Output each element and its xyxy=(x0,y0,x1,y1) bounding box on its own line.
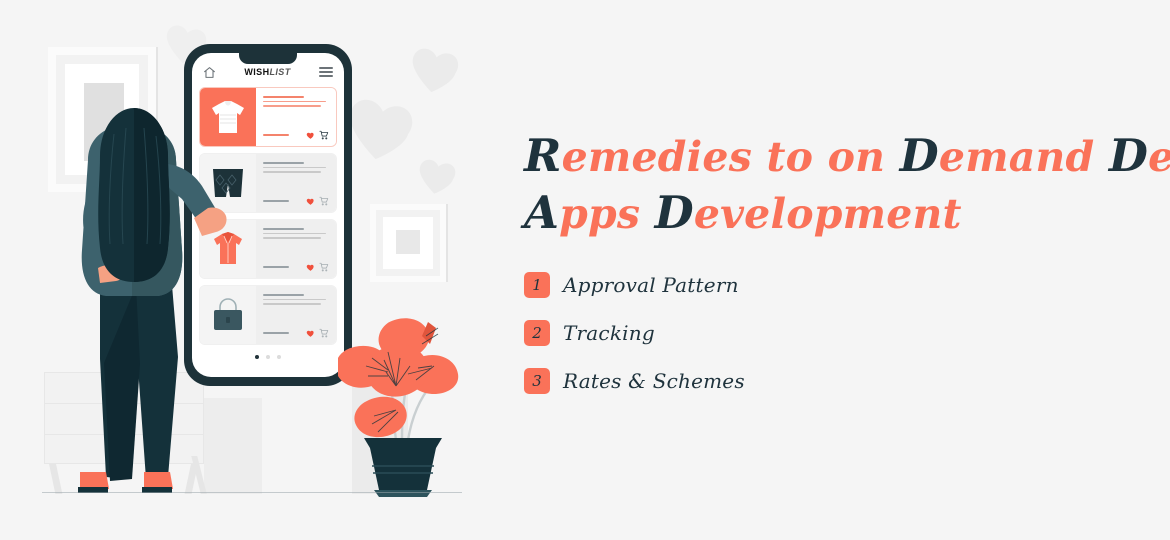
product-text-lines xyxy=(263,294,329,305)
product-desc-line xyxy=(263,171,321,173)
product-actions-row xyxy=(263,130,329,140)
title-word: to on xyxy=(766,133,885,181)
product-price-line xyxy=(263,332,289,334)
product-meta xyxy=(256,154,336,212)
decor-heart-icon xyxy=(340,88,424,170)
product-action-icons xyxy=(306,262,329,272)
list-item: 3 Rates & Schemes xyxy=(524,368,1124,394)
product-desc-line xyxy=(263,237,321,239)
product-actions-row xyxy=(263,328,329,338)
heart-icon[interactable] xyxy=(306,197,315,206)
product-meta xyxy=(256,88,336,146)
product-title-line xyxy=(263,228,304,230)
product-desc-line xyxy=(263,101,326,103)
pagination-dot[interactable] xyxy=(255,355,259,359)
heart-icon[interactable] xyxy=(306,329,315,338)
product-price-line xyxy=(263,134,289,136)
list-item-label: Tracking xyxy=(563,321,655,345)
product-desc-line xyxy=(263,303,321,305)
product-action-icons xyxy=(306,196,329,206)
product-actions-row xyxy=(263,196,329,206)
wall-frame-small xyxy=(370,204,446,282)
brand-italic: LIST xyxy=(270,67,291,77)
product-action-icons xyxy=(306,130,329,140)
product-price-line xyxy=(263,266,289,268)
product-action-icons xyxy=(306,328,329,338)
title-word: pps xyxy=(559,190,640,238)
title-word: emand xyxy=(939,133,1095,181)
phone-notch xyxy=(239,53,297,64)
product-desc-line xyxy=(263,167,326,169)
product-desc-line xyxy=(263,233,326,235)
pagination-dot[interactable] xyxy=(277,355,281,359)
title-capital: D xyxy=(1109,129,1148,182)
title-capital: D xyxy=(900,129,939,182)
title-capital: R xyxy=(524,129,562,182)
frame-artwork xyxy=(396,230,420,254)
feature-list: 1 Approval Pattern 2 Tracking 3 Rates & … xyxy=(524,272,1124,394)
list-number-badge: 1 xyxy=(524,272,550,298)
hamburger-bar xyxy=(319,67,333,68)
hamburger-bar xyxy=(319,75,333,76)
list-item: 1 Approval Pattern xyxy=(524,272,1124,298)
title-word: emedies xyxy=(562,133,752,181)
title-word: elivery xyxy=(1148,133,1170,181)
product-text-lines xyxy=(263,228,329,239)
hamburger-bar xyxy=(319,71,333,72)
product-desc-line xyxy=(263,105,321,107)
illustration-area: WISHLIST xyxy=(0,0,500,540)
title-capital: A xyxy=(524,186,559,239)
app-brand: WISHLIST xyxy=(244,67,290,77)
list-number-badge: 3 xyxy=(524,368,550,394)
product-title-line xyxy=(263,294,304,296)
title-word: evelopment xyxy=(694,190,962,238)
list-number-badge: 2 xyxy=(524,320,550,346)
cart-icon[interactable] xyxy=(319,262,329,272)
hamburger-menu-icon[interactable] xyxy=(319,67,333,76)
slide-canvas: WISHLIST xyxy=(0,0,1170,540)
product-text-lines xyxy=(263,96,329,107)
product-actions-row xyxy=(263,262,329,272)
product-desc-line xyxy=(263,299,326,301)
title-capital: D xyxy=(655,186,694,239)
list-item-label: Approval Pattern xyxy=(563,273,739,297)
product-price-line xyxy=(263,200,289,202)
page-title: Remedies to on Demand Delivery Apps Deve… xyxy=(524,128,1124,242)
home-icon[interactable] xyxy=(203,66,216,79)
heart-icon[interactable] xyxy=(306,263,315,272)
decor-heart-icon xyxy=(414,153,462,200)
woman-shopping-illustration xyxy=(40,90,230,495)
floor-line xyxy=(42,492,462,493)
content-area: Remedies to on Demand Delivery Apps Deve… xyxy=(524,128,1124,416)
list-item: 2 Tracking xyxy=(524,320,1124,346)
cart-icon[interactable] xyxy=(319,328,329,338)
product-title-line xyxy=(263,96,304,98)
pagination-dot[interactable] xyxy=(266,355,270,359)
product-meta xyxy=(256,286,336,344)
potted-plant-illustration xyxy=(338,300,468,498)
heart-icon[interactable] xyxy=(306,131,315,140)
product-meta xyxy=(256,220,336,278)
brand-bold: WISH xyxy=(244,67,269,77)
cart-icon[interactable] xyxy=(319,130,329,140)
product-text-lines xyxy=(263,162,329,173)
list-item-label: Rates & Schemes xyxy=(563,369,745,393)
product-title-line xyxy=(263,162,304,164)
title-line-2: Apps Development xyxy=(524,190,962,238)
title-line-1: Remedies to on Demand Delivery xyxy=(524,133,1170,181)
cart-icon[interactable] xyxy=(319,196,329,206)
